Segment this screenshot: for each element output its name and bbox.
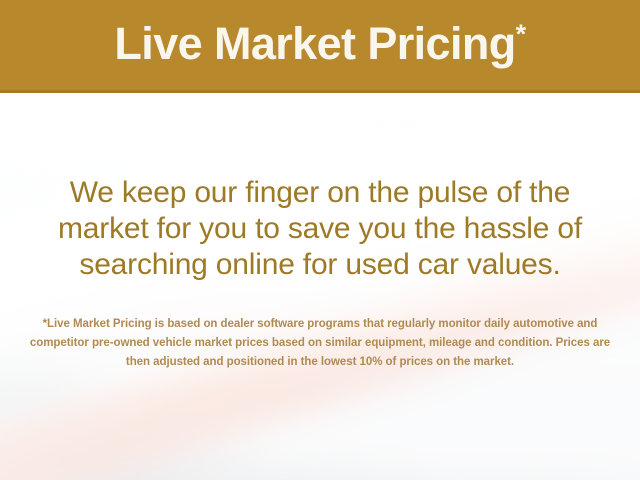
live-market-pricing-card: Live Market Pricing* We keep our finger … [0, 0, 640, 480]
headline-text: We keep our finger on the pulse of the m… [30, 175, 610, 283]
content-area: We keep our finger on the pulse of the m… [0, 93, 640, 480]
footnote-disclaimer: *Live Market Pricing is based on dealer … [26, 315, 614, 372]
page-title: Live Market Pricing* [114, 21, 525, 69]
title-asterisk-marker: * [516, 19, 526, 49]
page-title-text: Live Market Pricing [114, 18, 515, 69]
header-banner: Live Market Pricing* [0, 0, 640, 93]
